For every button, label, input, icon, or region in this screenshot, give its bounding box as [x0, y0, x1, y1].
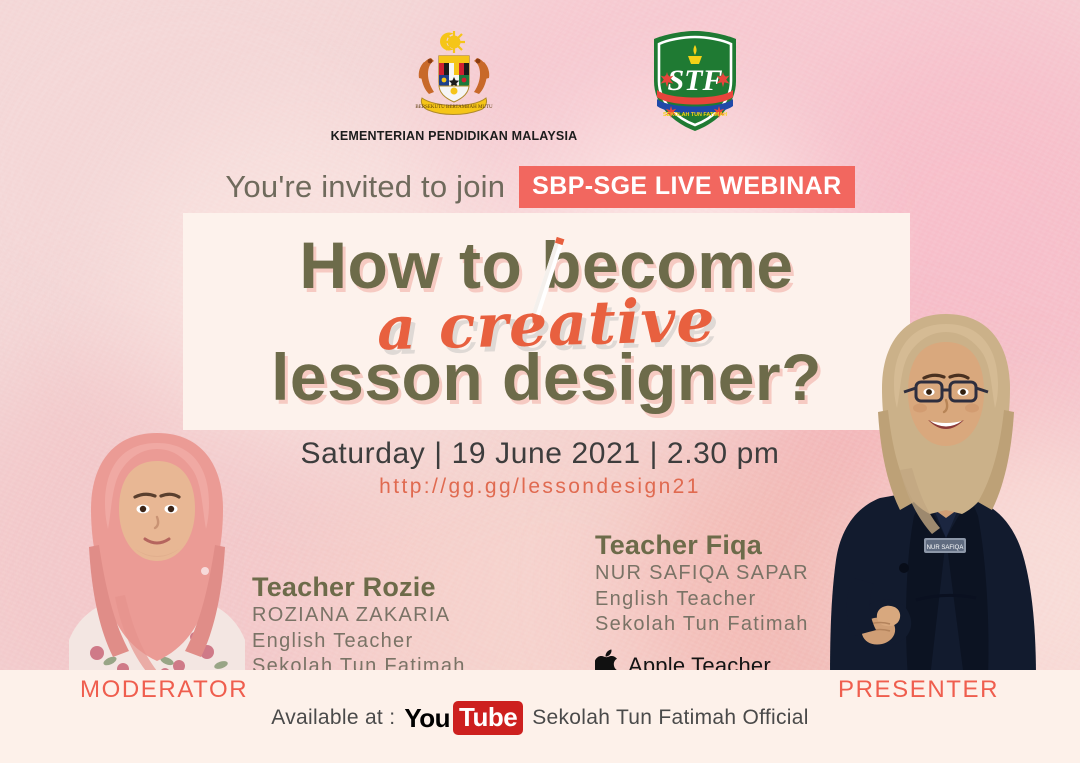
- available-label: Available at :: [271, 706, 395, 730]
- ministry-caption: KEMENTERIAN PENDIDIKAN MALAYSIA: [331, 129, 578, 143]
- school-block: STF SEKOLAH TUN FATIMAH: [641, 28, 749, 139]
- presenter-info: Teacher Fiqa NUR SAFIQA SAPAR English Te…: [595, 530, 809, 683]
- footer-availability: Available at : You Tube Sekolah Tun Fati…: [0, 701, 1080, 735]
- youtube-tube-text: Tube: [459, 702, 517, 732]
- moderator-portrait-icon: [55, 425, 260, 675]
- youtube-you-text: You: [404, 703, 450, 734]
- moderator-nickname: Teacher Rozie: [252, 572, 466, 603]
- stf-school-crest-icon: STF SEKOLAH TUN FATIMAH: [641, 28, 749, 139]
- ministry-block: BERSEKUTU BERTAMBAH MUTU KEMENTERIAN PEN…: [331, 28, 578, 143]
- moderator-info: Teacher Rozie ROZIANA ZAKARIA English Te…: [252, 572, 466, 680]
- presenter-school: Sekolah Tun Fatimah: [595, 612, 809, 638]
- presenter-role-label: PRESENTER: [838, 676, 999, 704]
- webinar-badge: SBP-SGE LIVE WEBINAR: [519, 166, 854, 208]
- invite-text: You're invited to join: [225, 169, 505, 205]
- svg-text:STF: STF: [668, 64, 723, 97]
- presenter-title: English Teacher: [595, 587, 809, 613]
- malaysia-coat-of-arms-icon: BERSEKUTU BERTAMBAH MUTU: [384, 28, 524, 125]
- moderator-title: English Teacher: [252, 629, 466, 655]
- presenter-portrait-icon: NUR SAFIQA: [820, 300, 1070, 675]
- presenter-nickname: Teacher Fiqa: [595, 530, 809, 561]
- presenter-fullname: NUR SAFIQA SAPAR: [595, 561, 809, 587]
- youtube-channel-name: Sekolah Tun Fatimah Official: [532, 706, 808, 730]
- svg-text:NUR SAFIQA: NUR SAFIQA: [927, 545, 964, 551]
- headline-group: How to become a creative lesson designer…: [183, 213, 910, 430]
- moderator-fullname: ROZIANA ZAKARIA: [252, 603, 466, 629]
- svg-text:BERSEKUTU BERTAMBAH MUTU: BERSEKUTU BERTAMBAH MUTU: [415, 105, 493, 110]
- header-crests: BERSEKUTU BERTAMBAH MUTU KEMENTERIAN PEN…: [0, 28, 1080, 143]
- youtube-logo-icon[interactable]: You Tube: [404, 701, 523, 735]
- youtube-tube-box: Tube: [453, 701, 523, 735]
- webinar-poster: BERSEKUTU BERTAMBAH MUTU KEMENTERIAN PEN…: [0, 0, 1080, 763]
- moderator-role-label: MODERATOR: [80, 676, 248, 704]
- invite-row: You're invited to join SBP-SGE LIVE WEBI…: [0, 166, 1080, 208]
- svg-text:SEKOLAH TUN FATIMAH: SEKOLAH TUN FATIMAH: [663, 112, 727, 118]
